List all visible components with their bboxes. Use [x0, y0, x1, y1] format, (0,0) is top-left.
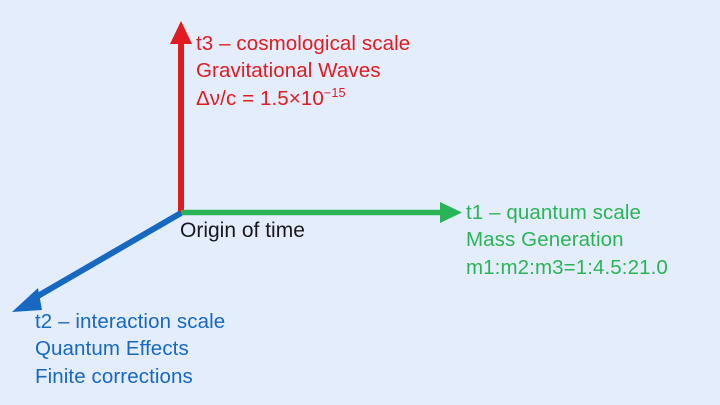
vertical-axis-arrowhead [170, 21, 192, 44]
axis-label-t3-line2: Gravitational Waves [196, 57, 410, 84]
axis-label-t3-line3-prefix: Δν/c = 1.5×10 [196, 87, 324, 110]
axis-label-t1-line1: t1 – quantum scale [466, 199, 668, 226]
axis-label-t3-line3: Δν/c = 1.5×10−15 [196, 85, 410, 112]
slide-canvas: t3 – cosmological scale Gravitational Wa… [0, 0, 720, 405]
axis-label-t2-line1: t2 – interaction scale [35, 308, 225, 335]
axis-label-t3-line3-exponent: −15 [324, 85, 346, 100]
origin-label: Origin of time [180, 219, 305, 243]
axis-label-t1: t1 – quantum scale Mass Generation m1:m2… [466, 199, 668, 281]
axis-label-t3-line1: t3 – cosmological scale [196, 30, 410, 57]
diagonal-axis-t2 [12, 213, 181, 312]
axis-label-t2-line3: Finite corrections [35, 363, 225, 390]
axis-label-t1-line3: m1:m2:m3=1:4.5:21.0 [466, 254, 668, 281]
axis-label-t2: t2 – interaction scale Quantum Effects F… [35, 308, 225, 390]
vertical-axis-t3 [170, 21, 192, 213]
diagonal-axis-line [31, 213, 181, 300]
axis-label-t3: t3 – cosmological scale Gravitational Wa… [196, 30, 410, 112]
axis-label-t1-line2: Mass Generation [466, 226, 668, 253]
horizontal-axis-arrowhead [440, 202, 462, 223]
axis-label-t2-line2: Quantum Effects [35, 335, 225, 362]
